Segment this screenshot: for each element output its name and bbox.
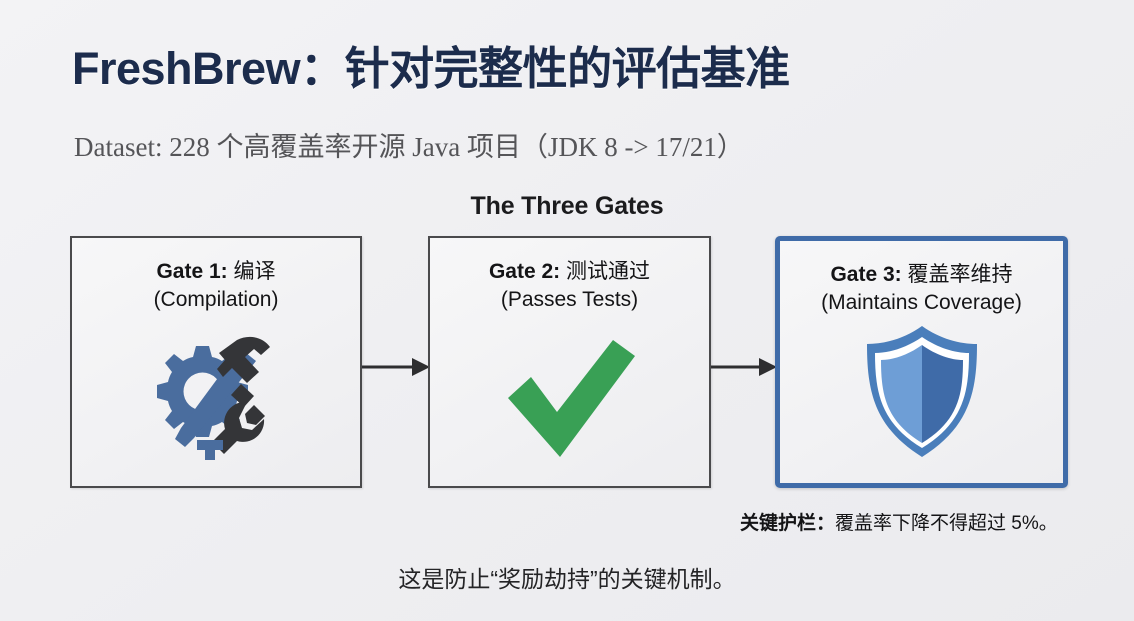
gate-3-title: Gate 3: 覆盖率维持 (780, 261, 1063, 289)
gate-2-title-rest: 测试通过 (560, 260, 650, 283)
gate-1-title: Gate 1: 编译 (72, 258, 360, 286)
gate-2-title-bold: Gate 2: (489, 260, 560, 283)
green-check-icon (430, 324, 709, 464)
guardrail-label: 关键护栏： (740, 513, 835, 534)
footnote-text: 这是防止“奖励劫持”的关键机制。 (0, 560, 1134, 594)
gate-3-title-rest: 覆盖率维持 (902, 263, 1013, 286)
gate-card-passes-tests[interactable]: Gate 2: 测试通过 (Passes Tests) (428, 236, 711, 488)
gate-card-compilation[interactable]: Gate 1: 编译 (Compilation) (70, 236, 362, 488)
gate-card-maintains-coverage[interactable]: Gate 3: 覆盖率维持 (Maintains Coverage) (775, 236, 1068, 488)
gate-2-subtitle: (Passes Tests) (430, 286, 709, 314)
guardrail-text: 覆盖率下降不得超过 5%。 (835, 513, 1058, 534)
build-tools-icon (72, 324, 360, 464)
arrow-gate2-to-gate3 (711, 355, 777, 379)
slide-canvas: FreshBrew：针对完整性的评估基准 Dataset: 228 个高覆盖率开… (0, 0, 1134, 621)
guardrail-note: 关键护栏：覆盖率下降不得超过 5%。 (740, 508, 1120, 535)
gate-3-subtitle: (Maintains Coverage) (780, 289, 1063, 317)
gate-1-subtitle: (Compilation) (72, 286, 360, 314)
gate-1-title-bold: Gate 1: (156, 260, 227, 283)
gate-3-title-bold: Gate 3: (830, 263, 901, 286)
gate-2-title: Gate 2: 测试通过 (430, 258, 709, 286)
gate-1-title-rest: 编译 (228, 260, 276, 283)
blue-shield-icon (780, 321, 1063, 461)
dataset-subtitle: Dataset: 228 个高覆盖率开源 Java 项目（JDK 8 -> 17… (74, 125, 744, 164)
page-title: FreshBrew：针对完整性的评估基准 (72, 32, 790, 97)
arrow-gate1-to-gate2 (362, 355, 430, 379)
section-heading: The Three Gates (0, 192, 1134, 221)
